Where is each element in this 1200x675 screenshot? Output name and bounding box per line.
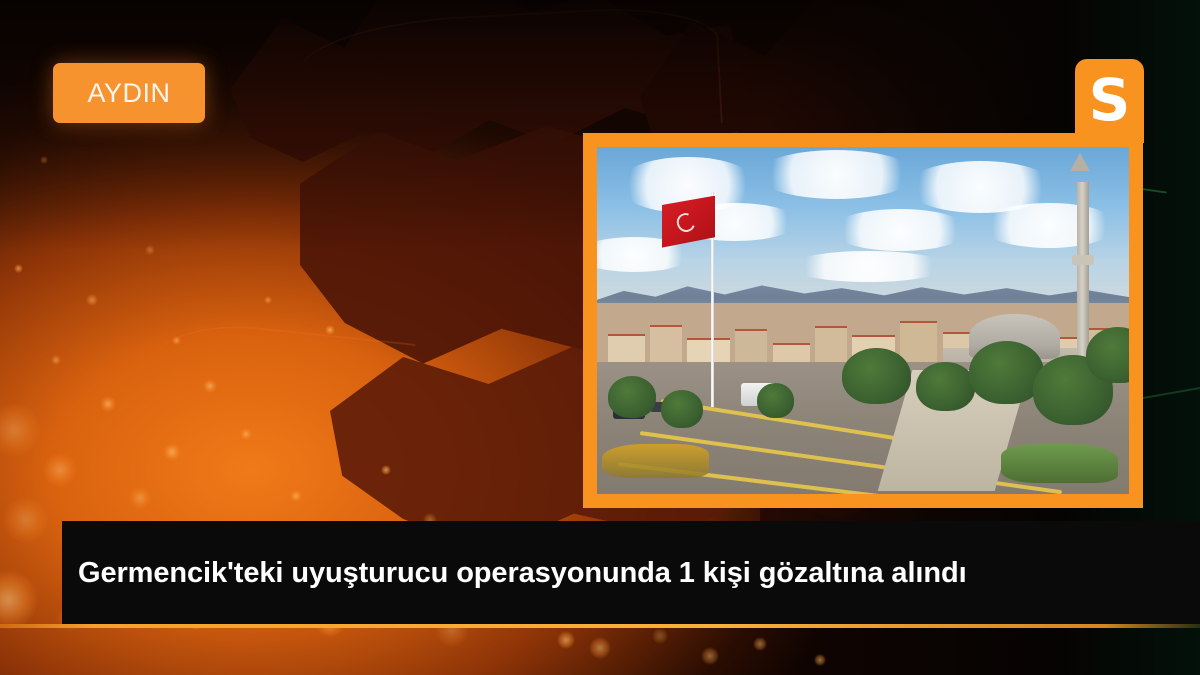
- brand-logo[interactable]: S: [1075, 59, 1144, 143]
- tree: [661, 390, 704, 428]
- headline-band: Germencik'teki uyuşturucu operasyonunda …: [62, 521, 1200, 626]
- cloud-icon: [831, 209, 969, 251]
- city-badge-label: AYDIN: [87, 78, 170, 109]
- flower-bed: [602, 444, 708, 478]
- cloud-icon: [757, 150, 917, 199]
- garden-patch: [1001, 444, 1118, 484]
- tree: [1086, 327, 1129, 383]
- cloud-icon: [980, 203, 1118, 248]
- news-card-stage: AYDIN S: [0, 0, 1200, 675]
- brand-logo-letter: S: [1089, 71, 1131, 129]
- tree: [608, 376, 656, 418]
- headline-text: Germencik'teki uyuşturucu operasyonunda …: [62, 556, 997, 591]
- city-badge[interactable]: AYDIN: [53, 63, 205, 123]
- headline-underline: [0, 624, 1200, 628]
- tree: [842, 348, 911, 404]
- tree: [757, 383, 794, 418]
- minaret-balcony: [1072, 255, 1094, 265]
- minaret: [1077, 182, 1089, 362]
- news-photo: [597, 147, 1129, 494]
- tree: [916, 362, 975, 411]
- news-photo-frame[interactable]: [583, 133, 1143, 508]
